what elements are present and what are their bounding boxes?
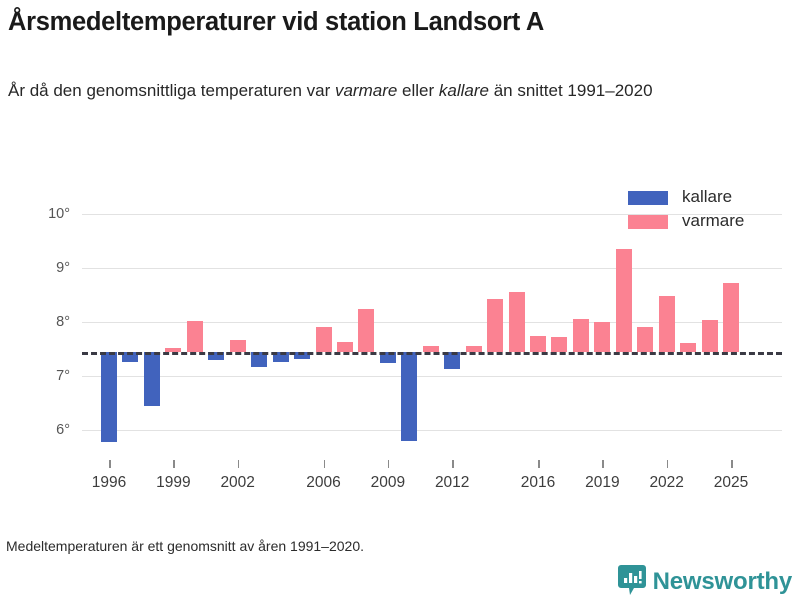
legend-label-kallare: kallare [682, 187, 732, 207]
chart-legend: kallarevarmare [628, 188, 788, 236]
plot-area [82, 214, 782, 460]
bar-2022[interactable] [659, 296, 675, 352]
x-tick-label: 2019 [572, 474, 632, 492]
x-tick [238, 460, 240, 468]
bar-2015[interactable] [509, 292, 525, 352]
legend-item-kallare[interactable]: kallare [628, 188, 788, 212]
brand-logo: Newsworthy [618, 565, 792, 599]
bar-2007[interactable] [337, 342, 353, 352]
x-tick-label: 2012 [422, 474, 482, 492]
bar-2008[interactable] [358, 309, 374, 353]
x-tick-label: 2006 [294, 474, 354, 492]
bar-2025[interactable] [723, 283, 739, 352]
x-tick [388, 460, 390, 468]
x-tick-label: 2002 [208, 474, 268, 492]
y-tick-label: 7° [10, 368, 70, 384]
y-tick-label: 6° [10, 422, 70, 438]
x-axis: 1996199920022006200920122016201920222025 [82, 460, 782, 510]
y-tick-label: 9° [10, 260, 70, 276]
bar-2011[interactable] [423, 346, 439, 352]
newsworthy-bar-chart-pin-icon [618, 565, 646, 600]
bar-2024[interactable] [702, 320, 718, 352]
bar-2019[interactable] [594, 322, 610, 352]
legend-item-varmare[interactable]: varmare [628, 212, 788, 236]
bar-2020[interactable] [616, 249, 632, 353]
y-tick-label: 10° [10, 206, 70, 222]
bar-2006[interactable] [316, 327, 332, 352]
bar-2023[interactable] [680, 343, 696, 353]
footnote: Medeltemperaturen är ett genomsnitt av å… [6, 538, 364, 554]
legend-swatch-kallare [628, 191, 668, 205]
x-tick-label: 1996 [79, 474, 139, 492]
x-tick-label: 2025 [701, 474, 761, 492]
legend-swatch-varmare [628, 215, 668, 229]
bar-2010[interactable] [401, 352, 417, 441]
chart-plot-wrapper: 6°7°8°9°10° 1996199920022006200920122016… [0, 0, 800, 600]
y-tick-label: 8° [10, 314, 70, 330]
bar-2021[interactable] [637, 327, 653, 352]
x-tick-label: 1999 [143, 474, 203, 492]
bar-2018[interactable] [573, 319, 589, 352]
bar-2014[interactable] [487, 299, 503, 352]
legend-label-varmare: varmare [682, 211, 744, 231]
x-tick [667, 460, 669, 468]
bar-1998[interactable] [144, 352, 160, 405]
x-tick [538, 460, 540, 468]
x-tick [602, 460, 604, 468]
bar-2013[interactable] [466, 346, 482, 352]
brand-name: Newsworthy [653, 568, 792, 596]
x-tick [731, 460, 733, 468]
bar-1996[interactable] [101, 352, 117, 442]
bar-2016[interactable] [530, 336, 546, 353]
x-tick-label: 2016 [508, 474, 568, 492]
baseline-average-line [82, 352, 782, 355]
bar-2002[interactable] [230, 340, 246, 352]
bar-2000[interactable] [187, 321, 203, 352]
x-tick [324, 460, 326, 468]
x-tick [452, 460, 454, 468]
x-tick [173, 460, 175, 468]
bar-2017[interactable] [551, 337, 567, 353]
x-tick-label: 2022 [637, 474, 697, 492]
x-tick [109, 460, 111, 468]
x-tick-label: 2009 [358, 474, 418, 492]
